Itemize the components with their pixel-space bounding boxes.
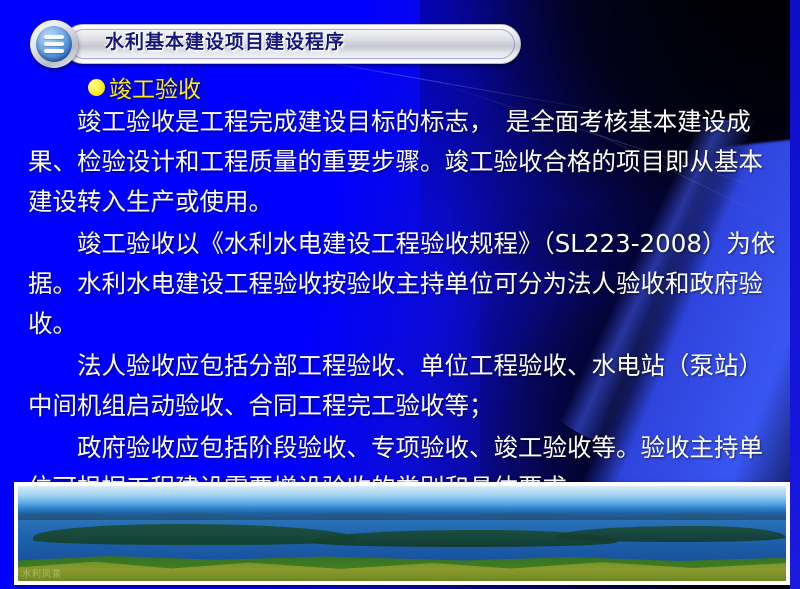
body-paragraph: 竣工验收以《水利水电建设工程验收规程》（SL223-2008）为依据。水利水电建… xyxy=(28,224,776,344)
slide-badge xyxy=(30,20,78,68)
hamburger-line xyxy=(44,49,64,53)
hamburger-line xyxy=(44,35,64,39)
photo-watermark: 水利风景 xyxy=(22,567,62,580)
photo-frame: 水利风景 xyxy=(14,482,790,585)
yellow-bullet-dot-icon xyxy=(88,79,105,96)
slide-body: 竣工验收是工程完成建设目标的标志， 是全面考核基本建设成果、检验设计和工程质量的… xyxy=(28,102,776,510)
hamburger-line xyxy=(44,42,64,46)
presentation-slide: 水利基本建设项目建设程序 竣工验收 竣工验收是工程完成建设目标的标志， 是全面考… xyxy=(0,0,800,589)
bullet-heading-label: 竣工验收 xyxy=(109,70,201,104)
page-title: 水利基本建设项目建设程序 xyxy=(105,27,345,54)
body-paragraph: 法人验收应包括分部工程验收、单位工程验收、水电站（泵站）中间机组启动验收、合同工… xyxy=(28,346,776,426)
bullet-heading: 竣工验收 xyxy=(88,70,201,104)
right-edge-strip xyxy=(790,0,800,589)
hamburger-lines-icon xyxy=(36,26,72,62)
body-paragraph: 竣工验收是工程完成建设目标的标志， 是全面考核基本建设成果、检验设计和工程质量的… xyxy=(28,102,776,222)
reservoir-panorama-photo: 水利风景 xyxy=(18,486,786,581)
